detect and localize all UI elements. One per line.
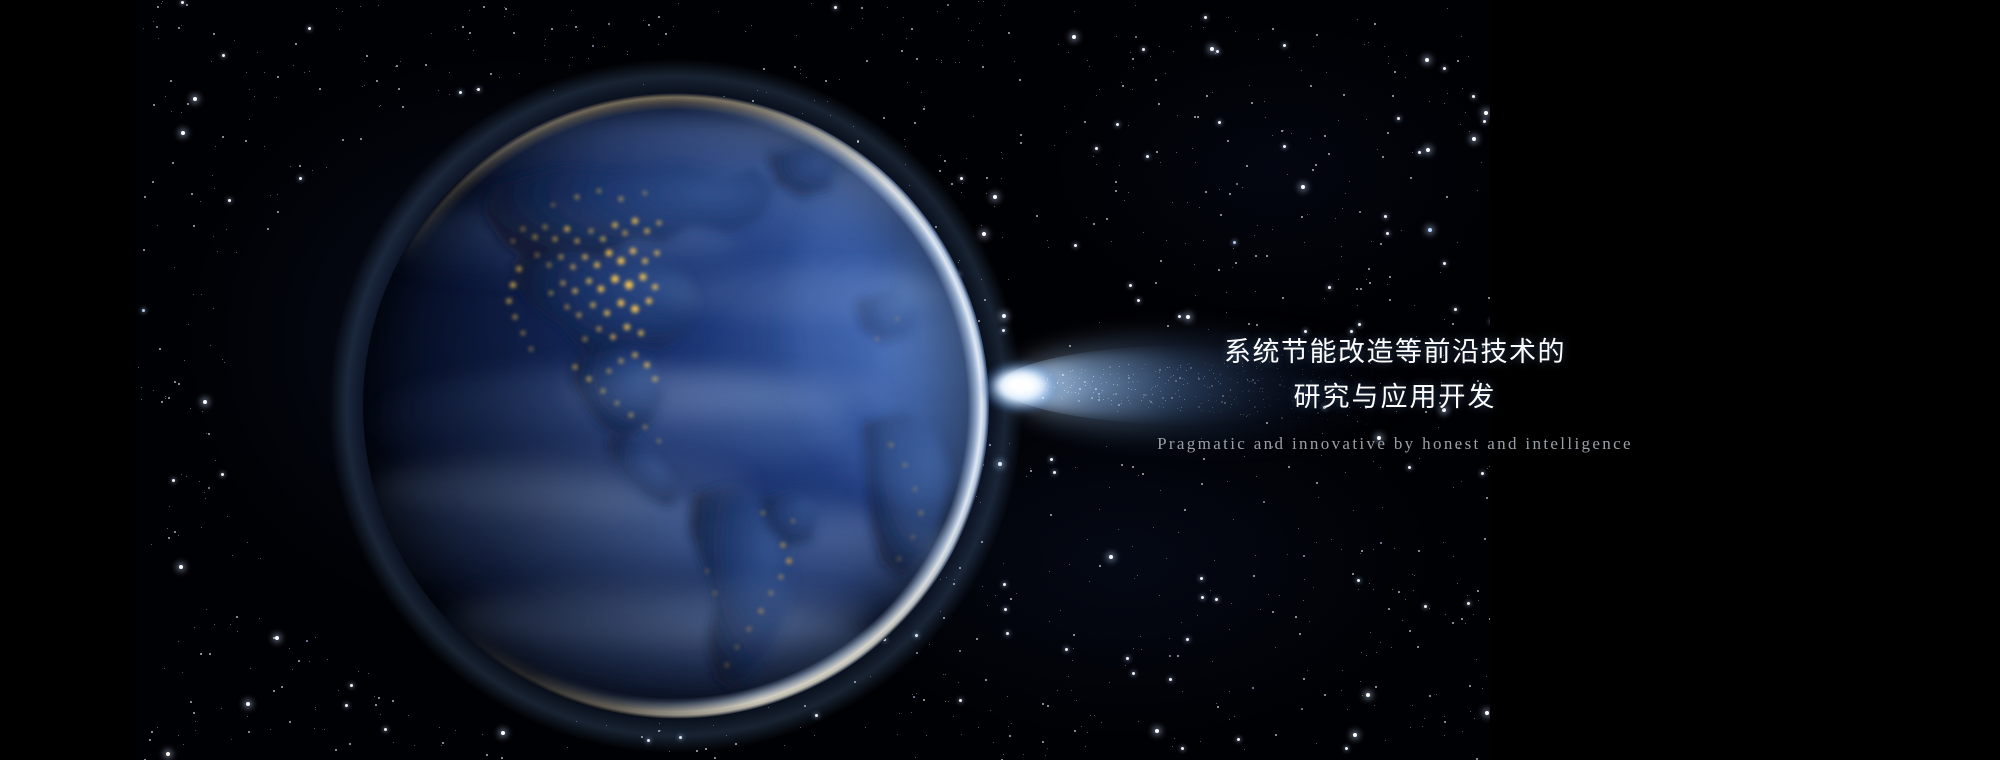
star: [1353, 510, 1354, 511]
star: [1135, 36, 1137, 38]
star: [1121, 464, 1123, 466]
star: [1443, 262, 1446, 265]
star: [745, 31, 746, 32]
star: [226, 229, 227, 230]
star: [971, 30, 972, 31]
star: [1011, 723, 1012, 724]
star: [1265, 117, 1266, 118]
star: [726, 735, 727, 736]
star: [1160, 162, 1161, 163]
star: [1382, 507, 1383, 508]
star: [947, 4, 949, 6]
star: [627, 54, 628, 55]
star: [1419, 458, 1420, 459]
star: [800, 73, 801, 74]
star: [1138, 721, 1139, 722]
star: [1132, 58, 1134, 60]
star: [270, 195, 271, 196]
star: [1184, 509, 1186, 511]
star: [201, 527, 202, 528]
star: [1087, 539, 1088, 540]
star: [1412, 574, 1413, 575]
star: [319, 88, 321, 90]
star: [248, 731, 250, 733]
star: [165, 396, 166, 397]
star: [1275, 647, 1276, 648]
star: [195, 721, 196, 722]
star: [968, 40, 969, 41]
star: [513, 32, 515, 34]
star: [839, 79, 840, 80]
star: [200, 653, 202, 655]
star: [200, 201, 201, 202]
star: [982, 45, 983, 46]
star: [469, 10, 470, 11]
star: [1228, 17, 1229, 18]
star: [1368, 42, 1369, 43]
star: [993, 742, 994, 743]
star: [277, 194, 278, 195]
star: [577, 30, 578, 31]
star: [1376, 652, 1377, 653]
star: [763, 68, 765, 70]
star: [1465, 112, 1466, 113]
star: [941, 60, 942, 61]
star: [1264, 101, 1265, 102]
star: [1360, 681, 1361, 682]
star: [1064, 106, 1065, 107]
star: [206, 433, 207, 434]
star: [1201, 483, 1203, 485]
star: [1071, 690, 1072, 691]
star: [1169, 655, 1171, 657]
star: [143, 28, 144, 29]
star: [1089, 581, 1090, 582]
star: [1203, 27, 1204, 28]
star: [1122, 85, 1124, 87]
star: [1263, 501, 1265, 503]
star: [1318, 497, 1319, 498]
star: [178, 735, 179, 736]
star: [1215, 53, 1216, 54]
star: [1260, 609, 1261, 610]
star: [158, 38, 159, 39]
star: [190, 408, 191, 409]
star: [806, 77, 807, 78]
star: [1099, 322, 1100, 323]
star: [1155, 282, 1157, 284]
star: [193, 294, 194, 295]
star: [1002, 237, 1003, 238]
star: [1476, 758, 1478, 760]
star: [277, 211, 279, 213]
star: [961, 734, 962, 735]
star: [396, 65, 398, 67]
star: [1254, 235, 1255, 236]
star: [1128, 192, 1129, 193]
star: [299, 177, 302, 180]
star: [161, 401, 163, 403]
star: [1087, 60, 1088, 61]
star: [1203, 458, 1205, 460]
star: [275, 636, 279, 640]
star: [1073, 634, 1075, 636]
star: [1366, 119, 1367, 120]
star: [1468, 56, 1469, 57]
star: [1155, 79, 1157, 81]
star: [1023, 754, 1024, 755]
star: [1187, 202, 1188, 203]
star: [1447, 8, 1448, 9]
star: [473, 50, 474, 51]
star: [1003, 754, 1004, 755]
star: [658, 44, 659, 45]
star: [1048, 247, 1049, 248]
star: [414, 745, 415, 746]
star: [314, 728, 315, 729]
star: [647, 739, 650, 742]
star: [571, 10, 572, 11]
star: [211, 61, 212, 62]
star: [1307, 670, 1308, 671]
star: [1050, 514, 1052, 516]
star: [673, 26, 674, 27]
star: [1068, 52, 1069, 53]
star: [167, 528, 168, 529]
star: [1214, 560, 1215, 561]
star: [1283, 130, 1284, 131]
star: [190, 701, 192, 703]
star: [1233, 241, 1236, 244]
star: [199, 481, 200, 482]
star: [1483, 120, 1486, 123]
star: [1409, 630, 1411, 632]
star: [983, 1, 984, 2]
star: [276, 639, 277, 640]
star: [1341, 256, 1342, 257]
star: [1115, 181, 1117, 183]
star: [1444, 716, 1445, 717]
star: [1253, 575, 1255, 577]
star: [604, 46, 605, 47]
star: [222, 136, 224, 138]
star: [1194, 116, 1196, 118]
star: [1229, 629, 1230, 630]
star: [138, 367, 139, 368]
star: [1074, 244, 1077, 247]
star: [544, 45, 545, 46]
star: [194, 627, 195, 628]
star: [144, 196, 146, 198]
star: [1002, 158, 1003, 159]
star: [395, 66, 396, 67]
star: [1244, 456, 1245, 457]
star: [994, 206, 995, 207]
star: [236, 616, 238, 618]
star: [159, 348, 161, 350]
star: [592, 45, 594, 47]
star: [1195, 162, 1196, 163]
star: [1169, 678, 1172, 681]
star: [1141, 649, 1142, 650]
star: [178, 641, 179, 642]
star: [1150, 56, 1151, 57]
star: [1138, 475, 1139, 476]
star: [1042, 741, 1044, 743]
headline-line-1: 系统节能改造等前沿技术的: [1000, 330, 1790, 375]
star: [217, 251, 218, 252]
star: [1096, 95, 1097, 96]
star: [161, 3, 162, 4]
star: [504, 7, 505, 8]
star: [1019, 79, 1021, 81]
star: [1008, 279, 1009, 280]
star: [865, 727, 866, 728]
star: [1132, 466, 1134, 468]
star: [1057, 690, 1058, 691]
star: [1197, 615, 1198, 616]
star: [1087, 732, 1088, 733]
star: [1137, 299, 1140, 302]
star: [1132, 672, 1135, 675]
star: [1324, 298, 1325, 299]
star: [1174, 738, 1175, 739]
star: [1283, 44, 1286, 47]
star: [1425, 58, 1429, 62]
star: [143, 249, 145, 251]
star: [1200, 741, 1201, 742]
star: [572, 57, 573, 58]
star: [1086, 217, 1087, 218]
star: [1447, 93, 1448, 94]
star: [1002, 314, 1006, 318]
star: [643, 84, 644, 85]
star: [1373, 549, 1374, 550]
star: [1469, 131, 1470, 132]
star: [209, 653, 211, 655]
star: [1484, 111, 1488, 115]
star: [1182, 691, 1183, 692]
star: [1470, 711, 1471, 712]
star: [1422, 726, 1423, 727]
star: [1428, 228, 1432, 232]
star: [1235, 262, 1237, 264]
star: [1060, 610, 1061, 611]
star: [989, 444, 991, 446]
star: [1135, 5, 1136, 6]
star: [678, 3, 679, 4]
star: [169, 506, 170, 507]
star: [1391, 647, 1392, 648]
star: [1099, 565, 1101, 567]
star: [941, 62, 942, 63]
star: [1242, 187, 1243, 188]
star: [1008, 32, 1010, 34]
nebula-haze-top-right: [955, 0, 1490, 380]
star: [1197, 116, 1199, 118]
star: [362, 86, 363, 87]
star: [1121, 82, 1122, 83]
star: [1248, 323, 1250, 325]
star: [1413, 590, 1414, 591]
star: [757, 90, 758, 91]
star: [1474, 718, 1475, 719]
star: [1374, 23, 1376, 25]
star: [1181, 622, 1182, 623]
star: [1304, 579, 1305, 580]
star: [1232, 267, 1233, 268]
star: [1132, 546, 1133, 547]
star: [1099, 89, 1100, 90]
star: [1125, 665, 1126, 666]
star: [1392, 95, 1394, 97]
star: [814, 735, 815, 736]
star: [588, 58, 589, 59]
star: [718, 11, 719, 12]
star: [1176, 152, 1177, 153]
earth-globe: [363, 93, 989, 719]
star: [978, 727, 979, 728]
star: [181, 25, 182, 26]
star: [1234, 716, 1235, 717]
star: [230, 624, 231, 625]
star: [1489, 466, 1490, 467]
star: [1457, 242, 1458, 243]
star: [289, 721, 291, 723]
star: [366, 55, 368, 57]
star: [995, 595, 996, 596]
star: [907, 82, 908, 83]
star: [1321, 455, 1322, 456]
star: [513, 14, 514, 15]
star: [153, 390, 154, 391]
star: [1140, 636, 1141, 637]
star: [1440, 272, 1441, 273]
star: [1093, 156, 1094, 157]
star: [911, 28, 913, 30]
star: [1272, 135, 1273, 136]
star: [1014, 61, 1015, 62]
star: [897, 734, 898, 735]
star: [439, 727, 440, 728]
star: [1181, 747, 1184, 750]
star: [1364, 44, 1365, 45]
star: [276, 97, 277, 98]
star: [696, 750, 698, 752]
star: [360, 6, 361, 7]
star: [1016, 593, 1017, 594]
star: [1374, 705, 1375, 706]
star: [152, 181, 154, 183]
star: [486, 754, 488, 756]
star: [1256, 324, 1258, 326]
star: [204, 492, 205, 493]
star: [906, 38, 907, 39]
star: [1388, 608, 1390, 610]
banner-copy: 系统节能改造等前沿技术的 研究与应用开发 Pragmatic and innov…: [1000, 330, 1790, 454]
star: [1229, 193, 1231, 195]
star: [998, 462, 1002, 466]
star: [215, 460, 216, 461]
banner-tagline: Pragmatic and innovative by honest and i…: [1000, 434, 1790, 454]
star: [1345, 193, 1346, 194]
star: [882, 34, 883, 35]
star: [1486, 676, 1487, 677]
star: [1368, 268, 1370, 270]
star: [1050, 458, 1053, 461]
star: [442, 742, 444, 744]
star: [1109, 682, 1110, 683]
star: [1397, 117, 1400, 120]
star: [1398, 591, 1400, 593]
star: [1349, 181, 1350, 182]
star: [1385, 740, 1386, 741]
banner-stage: 系统节能改造等前沿技术的 研究与应用开发 Pragmatic and innov…: [0, 0, 2000, 760]
star: [1303, 678, 1305, 680]
star: [335, 749, 337, 751]
star: [1477, 190, 1478, 191]
star: [1072, 660, 1073, 661]
star: [1159, 595, 1160, 596]
star: [1478, 600, 1479, 601]
star: [483, 6, 485, 8]
star: [1472, 95, 1475, 98]
star: [462, 26, 464, 28]
star: [1301, 708, 1303, 710]
star: [1124, 200, 1125, 201]
star: [181, 1, 184, 4]
star: [1212, 92, 1213, 93]
star: [1299, 633, 1301, 635]
star: [247, 542, 248, 543]
star: [1408, 466, 1411, 469]
star: [1380, 642, 1381, 643]
star: [1443, 67, 1446, 70]
star: [936, 59, 937, 60]
star: [172, 479, 175, 482]
star: [1065, 648, 1068, 651]
star: [1287, 554, 1288, 555]
star: [1001, 152, 1002, 153]
star: [1335, 218, 1336, 219]
star: [187, 103, 189, 105]
star: [1134, 578, 1135, 579]
star: [1227, 481, 1228, 482]
star: [327, 659, 328, 660]
star: [1252, 687, 1254, 689]
star: [1160, 260, 1162, 262]
star: [246, 72, 247, 73]
star: [151, 544, 152, 545]
star: [1156, 151, 1158, 153]
star: [1126, 657, 1129, 660]
star: [1081, 726, 1082, 727]
star: [1218, 269, 1220, 271]
star: [1476, 659, 1477, 660]
star: [1406, 55, 1407, 56]
star: [959, 62, 960, 63]
star: [1133, 648, 1134, 649]
star: [201, 653, 202, 654]
star: [916, 58, 918, 60]
star: [1410, 727, 1411, 728]
star: [181, 474, 182, 475]
star: [309, 661, 310, 662]
star: [567, 747, 568, 748]
star: [1201, 596, 1204, 599]
star: [1128, 125, 1129, 126]
star: [1489, 618, 1490, 620]
